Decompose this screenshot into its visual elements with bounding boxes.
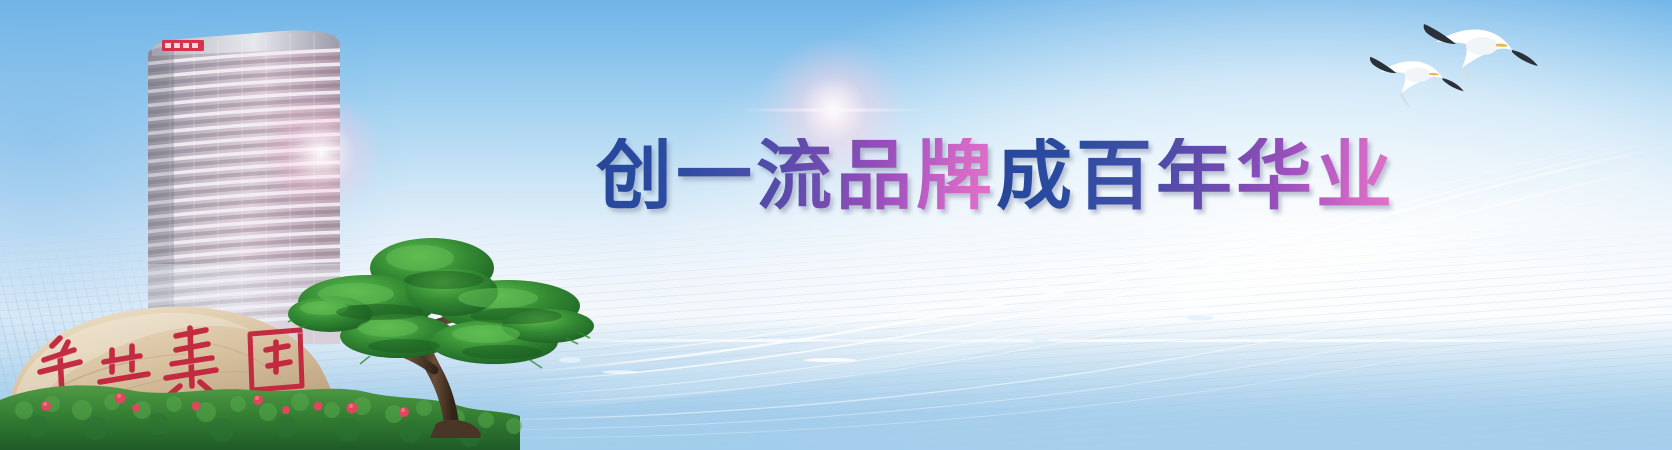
seagull-group bbox=[1370, 6, 1550, 116]
landscape-foreground bbox=[0, 210, 600, 450]
seagull-icon bbox=[1370, 57, 1464, 108]
slogan-part-two: 成百年华业 bbox=[996, 138, 1396, 214]
corporate-banner: 创一流品牌 成百年华业 bbox=[0, 0, 1672, 450]
slogan-part-one: 创一流品牌 bbox=[596, 138, 996, 214]
building-sun-flare bbox=[256, 96, 386, 211]
slogan-banner-text: 创一流品牌 成百年华业 bbox=[596, 128, 1376, 224]
seagull-icon bbox=[1424, 24, 1538, 80]
